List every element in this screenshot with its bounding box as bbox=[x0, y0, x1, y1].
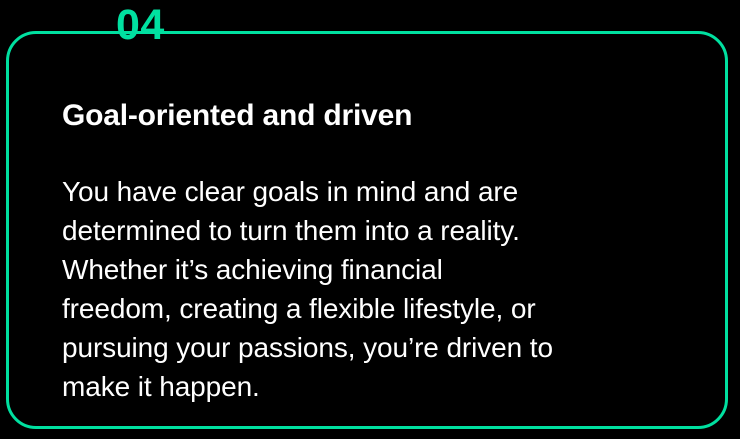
card-content: Goal-oriented and driven You have clear … bbox=[62, 96, 682, 406]
card-border-gap bbox=[111, 58, 205, 73]
body-line: You have clear goals in mind and are bbox=[62, 172, 682, 211]
body-line: Whether it’s achieving financial bbox=[62, 250, 682, 289]
slide-canvas: 04 Goal-oriented and driven You have cle… bbox=[0, 0, 740, 439]
card-body: You have clear goals in mind and are det… bbox=[62, 136, 682, 406]
body-line: pursuing your passions, you’re driven to bbox=[62, 328, 682, 367]
body-line: determined to turn them into a reality. bbox=[62, 211, 682, 250]
body-line: make it happen. bbox=[62, 367, 682, 406]
card-heading: Goal-oriented and driven bbox=[62, 96, 682, 136]
step-number-badge: 04 bbox=[116, 4, 165, 47]
body-line: freedom, creating a flexible lifestyle, … bbox=[62, 289, 682, 328]
